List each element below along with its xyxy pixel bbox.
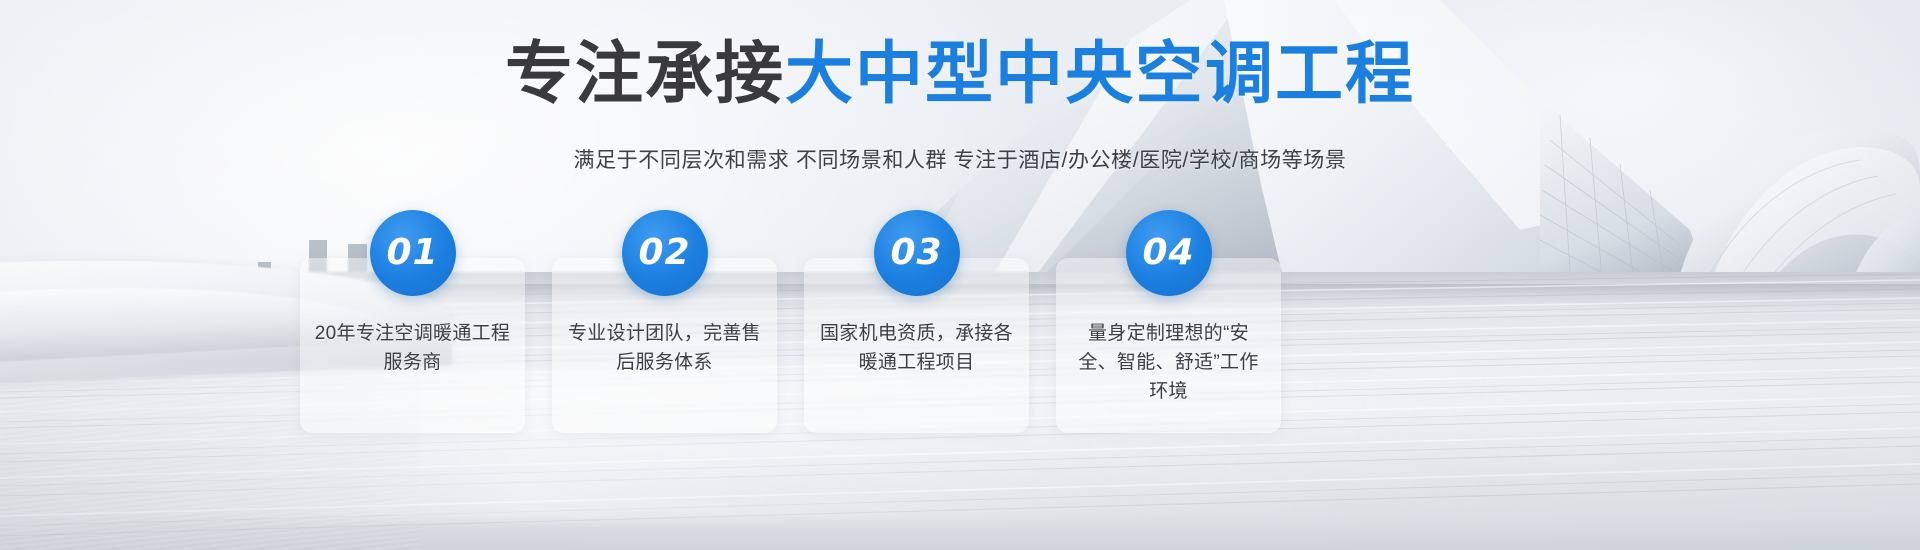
feature-card-02[interactable]: 02 专业设计团队，完善售后服务体系 — [552, 258, 777, 433]
feature-card-04[interactable]: 04 量身定制理想的“安全、智能、舒适”工作环境 — [1056, 258, 1281, 433]
number-badge-04: 04 — [1126, 210, 1212, 296]
badge-number-label: 03 — [890, 235, 942, 271]
page-subtitle: 满足于不同层次和需求 不同场景和人群 专注于酒店/办公楼/医院/学校/商场等场景 — [0, 144, 1920, 174]
headline-dark-text: 专注承接 — [505, 36, 785, 112]
number-badge-03: 03 — [874, 210, 960, 296]
page-title: 专注承接大中型中央空调工程 — [0, 40, 1920, 108]
badge-number-label: 04 — [1142, 235, 1194, 271]
feature-card-text: 国家机电资质，承接各暖通工程项目 — [818, 320, 1015, 378]
hero-banner: 专注承接大中型中央空调工程 满足于不同层次和需求 不同场景和人群 专注于酒店/办… — [0, 0, 1920, 550]
number-badge-02: 02 — [622, 210, 708, 296]
feature-card-list: 01 20年专注空调暖通工程服务商 02 专业设计团队，完善售后服务体系 03 … — [300, 258, 1580, 433]
feature-card-text: 专业设计团队，完善售后服务体系 — [566, 320, 763, 378]
badge-number-label: 02 — [638, 235, 690, 271]
feature-card-text: 20年专注空调暖通工程服务商 — [314, 320, 511, 378]
number-badge-01: 01 — [370, 210, 456, 296]
headline-blue-text: 大中型中央空调工程 — [785, 36, 1415, 112]
badge-number-label: 01 — [386, 235, 438, 271]
feature-card-text: 量身定制理想的“安全、智能、舒适”工作环境 — [1070, 320, 1267, 407]
feature-card-01[interactable]: 01 20年专注空调暖通工程服务商 — [300, 258, 525, 433]
feature-card-03[interactable]: 03 国家机电资质，承接各暖通工程项目 — [804, 258, 1029, 433]
